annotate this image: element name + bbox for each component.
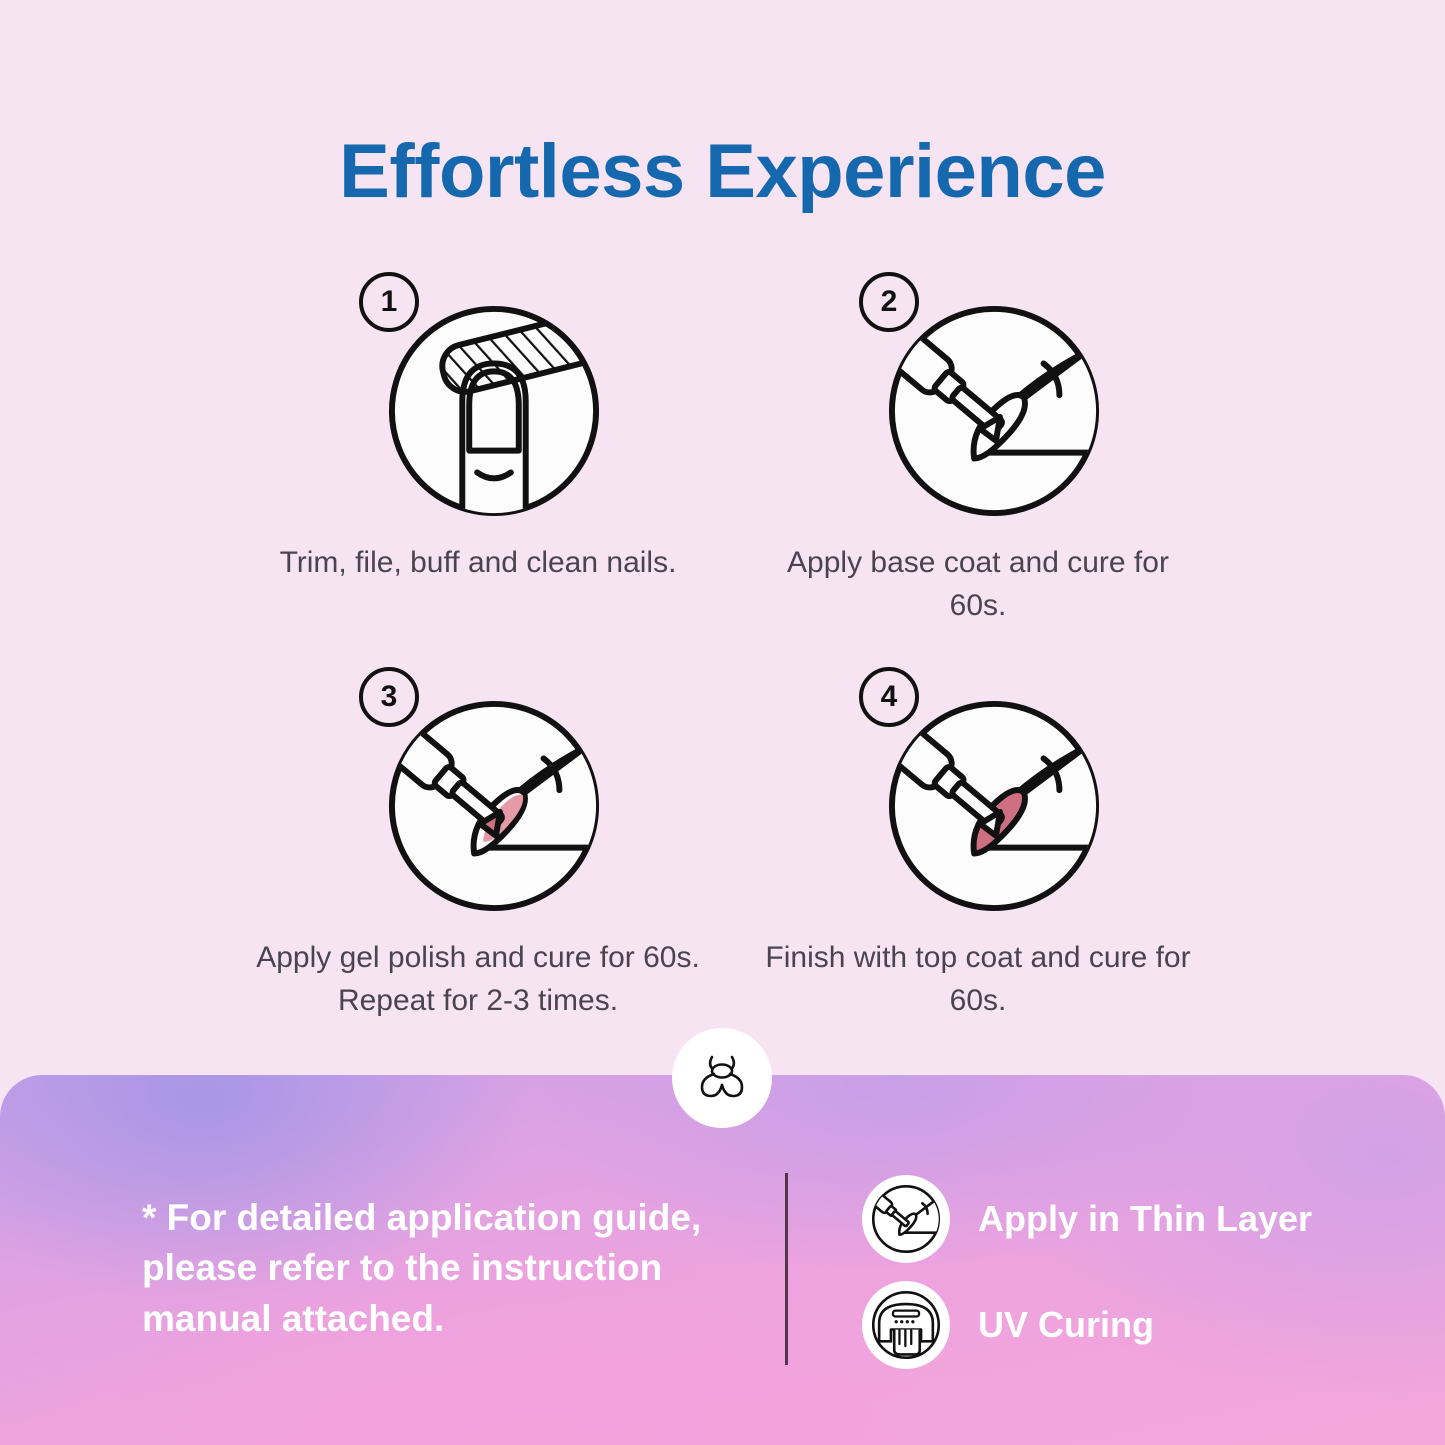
thin-layer-brush-icon [862, 1175, 950, 1263]
infographic-root: Effortless Experience 1 [0, 0, 1445, 1445]
feature-label-uv-curing: UV Curing [978, 1304, 1154, 1346]
step-caption-3: Apply gel polish and cure for 60s. Repea… [243, 937, 713, 1022]
brand-logo-medallion [672, 1028, 772, 1128]
footer-note: * For detailed application guide, please… [142, 1193, 752, 1344]
step-caption-2: Apply base coat and cure for 60s. [758, 542, 1198, 627]
base-coat-brush-icon [885, 302, 1103, 520]
step-number-badge-2: 2 [859, 272, 919, 332]
step-number-badge-1: 1 [359, 272, 419, 332]
step-item-2: 2 [728, 272, 1228, 627]
uv-lamp-icon [862, 1281, 950, 1369]
bee-logo-icon [694, 1052, 750, 1104]
step-art-wrapper-3: 3 [343, 667, 613, 915]
footer-divider [785, 1173, 788, 1365]
step-item-3: 3 [228, 667, 728, 1022]
page-title: Effortless Experience [0, 132, 1445, 212]
nail-file-icon [385, 302, 603, 520]
gel-polish-brush-icon [385, 697, 603, 915]
feature-label-thin-layer: Apply in Thin Layer [978, 1198, 1312, 1240]
step-art-wrapper-1: 1 [343, 272, 613, 520]
feature-item-thin-layer: Apply in Thin Layer [862, 1175, 1312, 1263]
step-item-1: 1 [228, 272, 728, 627]
footer-banner: * For detailed application guide, please… [0, 1075, 1445, 1445]
footer-features-list: Apply in Thin Layer [862, 1175, 1312, 1369]
step-caption-4: Finish with top coat and cure for 60s. [758, 937, 1198, 1022]
step-caption-1: Trim, file, buff and clean nails. [258, 542, 698, 585]
step-art-wrapper-4: 4 [843, 667, 1113, 915]
steps-grid: 1 [228, 272, 1228, 1022]
step-number-badge-4: 4 [859, 667, 919, 727]
step-item-4: 4 [728, 667, 1228, 1022]
step-number-badge-3: 3 [359, 667, 419, 727]
feature-item-uv-curing: UV Curing [862, 1281, 1312, 1369]
top-coat-brush-icon [885, 697, 1103, 915]
step-art-wrapper-2: 2 [843, 272, 1113, 520]
